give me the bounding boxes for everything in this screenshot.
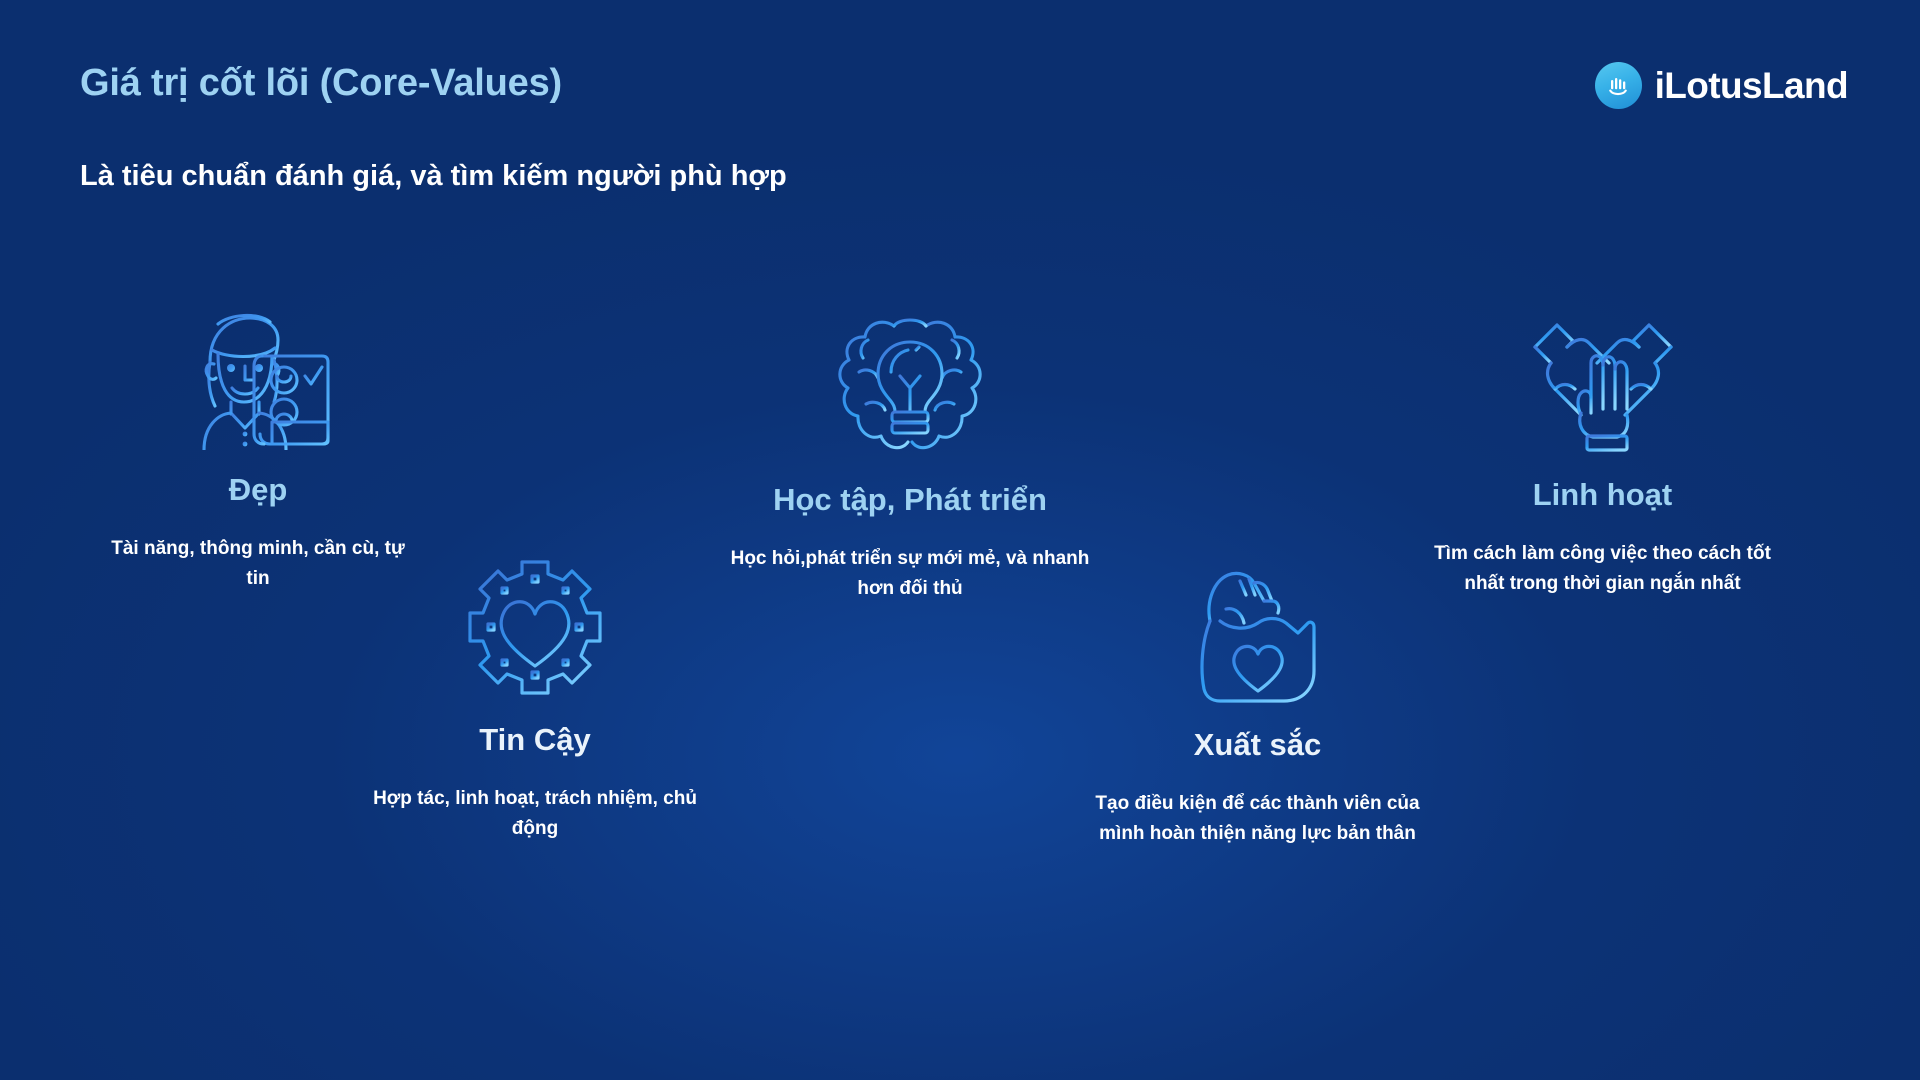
- value-card-linh-hoat: Linh hoạt Tìm cách làm công việc theo cá…: [1420, 305, 1785, 599]
- brain-with-lightbulb-icon: [710, 310, 1110, 460]
- value-card-tin-cay: Tin Cậy Hợp tác, linh hoạt, trách nhiệm,…: [370, 550, 700, 844]
- gear-with-heart-icon: [370, 550, 700, 700]
- three-hands-together-icon: [1420, 305, 1785, 455]
- page-title: Giá trị cốt lõi (Core-Values): [80, 62, 562, 105]
- page-subtitle: Là tiêu chuẩn đánh giá, và tìm kiếm ngườ…: [80, 160, 787, 193]
- flexed-arm-with-heart-icon: [1075, 555, 1440, 705]
- value-title: Học tập, Phát triển: [710, 482, 1110, 518]
- brand-logo: iLotusLand: [1595, 62, 1848, 109]
- value-card-xuat-sac: Xuất sắc Tạo điều kiện để các thành viên…: [1075, 555, 1440, 849]
- value-description: Học hỏi,phát triển sự mới mẻ, và nhanh h…: [710, 544, 1110, 604]
- value-description: Tìm cách làm công việc theo cách tốt nhấ…: [1420, 539, 1785, 599]
- value-description: Hợp tác, linh hoạt, trách nhiệm, chủ độn…: [370, 784, 700, 844]
- lotus-logo-icon: [1595, 62, 1642, 109]
- slide-canvas: Giá trị cốt lõi (Core-Values) Là tiêu ch…: [0, 0, 1920, 1080]
- value-description: Tạo điều kiện để các thành viên của mình…: [1075, 789, 1440, 849]
- value-title: Xuất sắc: [1075, 727, 1440, 763]
- value-title: Tin Cậy: [370, 722, 700, 758]
- value-title: Linh hoạt: [1420, 477, 1785, 513]
- brand-name: iLotusLand: [1655, 67, 1848, 104]
- value-description: Tài năng, thông minh, cần cù, tự tin: [108, 534, 408, 594]
- value-title: Đẹp: [108, 472, 408, 508]
- value-card-hoc-tap-phat-trien: Học tập, Phát triển Học hỏi,phát triển s…: [710, 310, 1110, 604]
- value-card-dep: Đẹp Tài năng, thông minh, cần cù, tự tin: [108, 300, 408, 594]
- person-with-profile-checklist-icon: [108, 300, 408, 450]
